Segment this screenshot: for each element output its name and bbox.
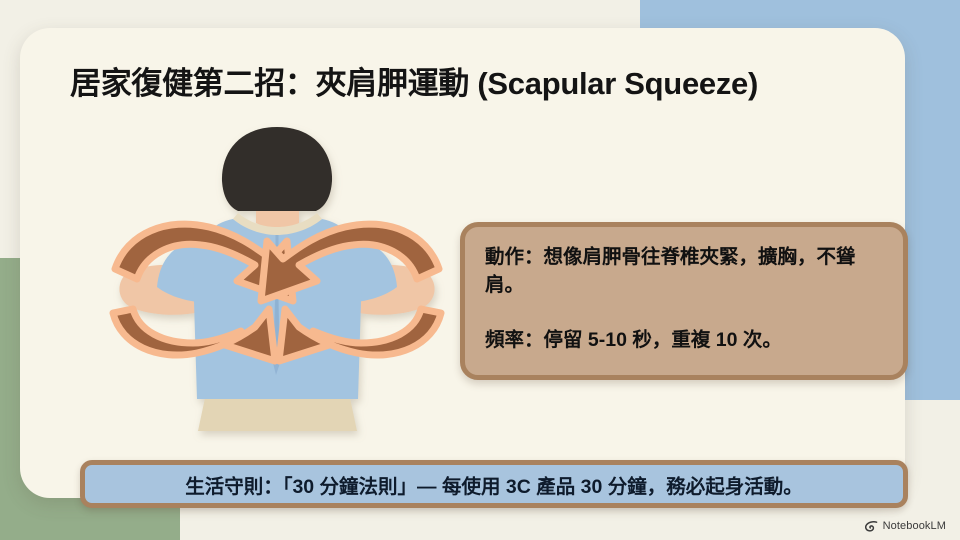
instruction-box: 動作：想像肩胛骨往脊椎夾緊，擴胸，不聳肩。 頻率：停留 5-10 秒，重複 10… — [460, 222, 908, 380]
instruction-action-line: 動作：想像肩胛骨往脊椎夾緊，擴胸，不聳肩。 — [485, 243, 883, 300]
page-title: 居家復健第二招：夾肩胛運動 (Scapular Squeeze) — [70, 58, 880, 103]
lifestyle-rule-banner: 生活守則：「30 分鐘法則」— 每使用 3C 產品 30 分鐘，務必起身活動。 — [80, 460, 908, 508]
instruction-frequency-line: 頻率：停留 5-10 秒，重複 10 次。 — [485, 326, 883, 354]
slide-canvas: 居家復健第二招：夾肩胛運動 (Scapular Squeeze) — [0, 0, 960, 540]
notebooklm-watermark: NotebookLM — [865, 520, 946, 532]
scapular-squeeze-illustration — [105, 123, 450, 443]
slide-card: 居家復健第二招：夾肩胛運動 (Scapular Squeeze) — [20, 28, 905, 498]
notebooklm-spark-icon — [865, 521, 878, 532]
notebooklm-watermark-label: NotebookLM — [883, 520, 946, 532]
lifestyle-rule-text: 生活守則：「30 分鐘法則」— 每使用 3C 產品 30 分鐘，務必起身活動。 — [185, 470, 803, 499]
